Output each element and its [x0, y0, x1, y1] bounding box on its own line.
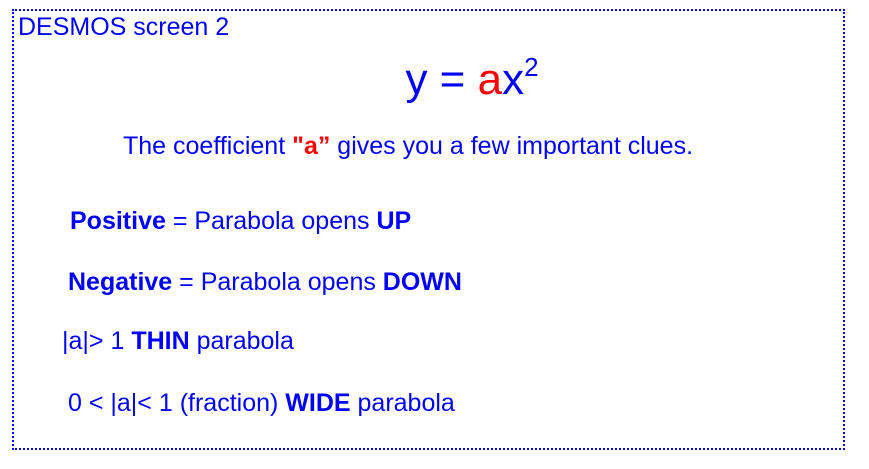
rule-wide: 0 < |a|< 1 (fraction) WIDE parabola: [68, 388, 455, 418]
rule-thin-middle: > 1: [89, 327, 131, 355]
rule-negative-tail: DOWN: [383, 268, 462, 296]
coefficient-text-suffix: gives you a few important clues.: [330, 132, 693, 160]
rule-wide-middle: < 1 (fraction): [137, 389, 285, 417]
rule-negative-middle: = Parabola opens: [172, 268, 383, 296]
rule-positive-tail: UP: [376, 207, 411, 235]
rule-thin: |a|> 1 THIN parabola: [62, 326, 294, 356]
coefficient-quote-close: ”: [318, 132, 331, 160]
equation-variable: x: [502, 55, 524, 104]
rule-positive: Positive = Parabola opens UP: [70, 206, 411, 236]
rule-positive-middle: = Parabola opens: [166, 207, 377, 235]
equation-heading: y = ax2: [0, 55, 869, 105]
equation-lhs: y =: [405, 55, 477, 104]
coefficient-letter: a: [304, 132, 318, 160]
rule-wide-tail: parabola: [351, 389, 455, 417]
slide-canvas: DESMOS screen 2 y = ax2 The coefficient …: [0, 0, 869, 469]
rule-thin-tail: parabola: [190, 327, 294, 355]
rule-negative: Negative = Parabola opens DOWN: [68, 267, 462, 297]
rule-thin-lead: |a|: [62, 327, 89, 355]
equation-exponent: 2: [524, 52, 538, 82]
equation-coefficient: a: [478, 55, 502, 104]
page-title: DESMOS screen 2: [18, 13, 229, 41]
rule-wide-lead: 0 < |a|: [68, 389, 137, 417]
rule-thin-emphasis: THIN: [131, 327, 189, 355]
rule-positive-lead: Positive: [70, 207, 166, 235]
coefficient-quote-open: ": [292, 132, 304, 160]
coefficient-description: The coefficient "a” gives you a few impo…: [123, 131, 693, 161]
rule-negative-lead: Negative: [68, 268, 172, 296]
coefficient-text-prefix: The coefficient: [123, 132, 292, 160]
rule-wide-emphasis: WIDE: [285, 389, 350, 417]
